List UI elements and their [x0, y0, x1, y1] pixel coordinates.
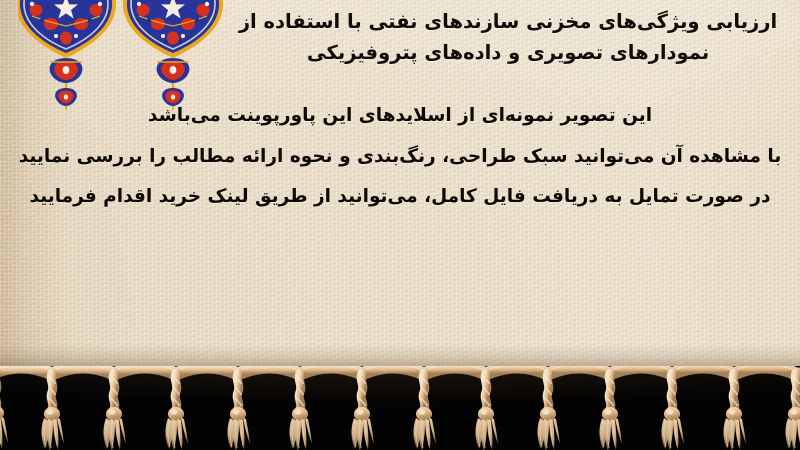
slide-title: ارزیابی ویژگی‌های مخزنی سازندهای نفتی با…	[238, 6, 778, 68]
tassel	[413, 373, 436, 450]
tassel	[475, 373, 498, 450]
tassel-fringe-graphic	[0, 366, 800, 450]
tassel	[599, 373, 622, 450]
tassel	[785, 373, 800, 450]
tassel	[227, 373, 250, 450]
presentation-slide: ارزیابی ویژگی‌های مخزنی سازندهای نفتی با…	[0, 0, 800, 450]
tassel	[723, 373, 746, 450]
tassel	[351, 373, 374, 450]
slide-title-line-1: ارزیابی ویژگی‌های مخزنی سازندهای نفتی با…	[238, 6, 778, 37]
slide-body: این تصویر نمونه‌ای از اسلایدهای این پاور…	[0, 107, 800, 207]
tassel	[41, 373, 64, 450]
tassel	[0, 372, 8, 450]
body-line-1: این تصویر نمونه‌ای از اسلایدهای این پاور…	[0, 107, 800, 132]
tassel	[165, 373, 188, 450]
bottom-fringe-band	[0, 366, 800, 450]
body-line-2: با مشاهده آن می‌توانید سبک طراحی، رنگ‌بن…	[0, 132, 800, 173]
tassel	[661, 373, 684, 450]
slide-title-line-2: نمودارهای تصویری و داده‌های پتروفیزیکی	[238, 37, 778, 68]
body-line-3: در صورت تمایل به دریافت فایل کامل، می‌تو…	[0, 172, 800, 207]
tassel	[289, 373, 312, 450]
tassel	[103, 373, 126, 450]
tassel	[537, 373, 560, 450]
